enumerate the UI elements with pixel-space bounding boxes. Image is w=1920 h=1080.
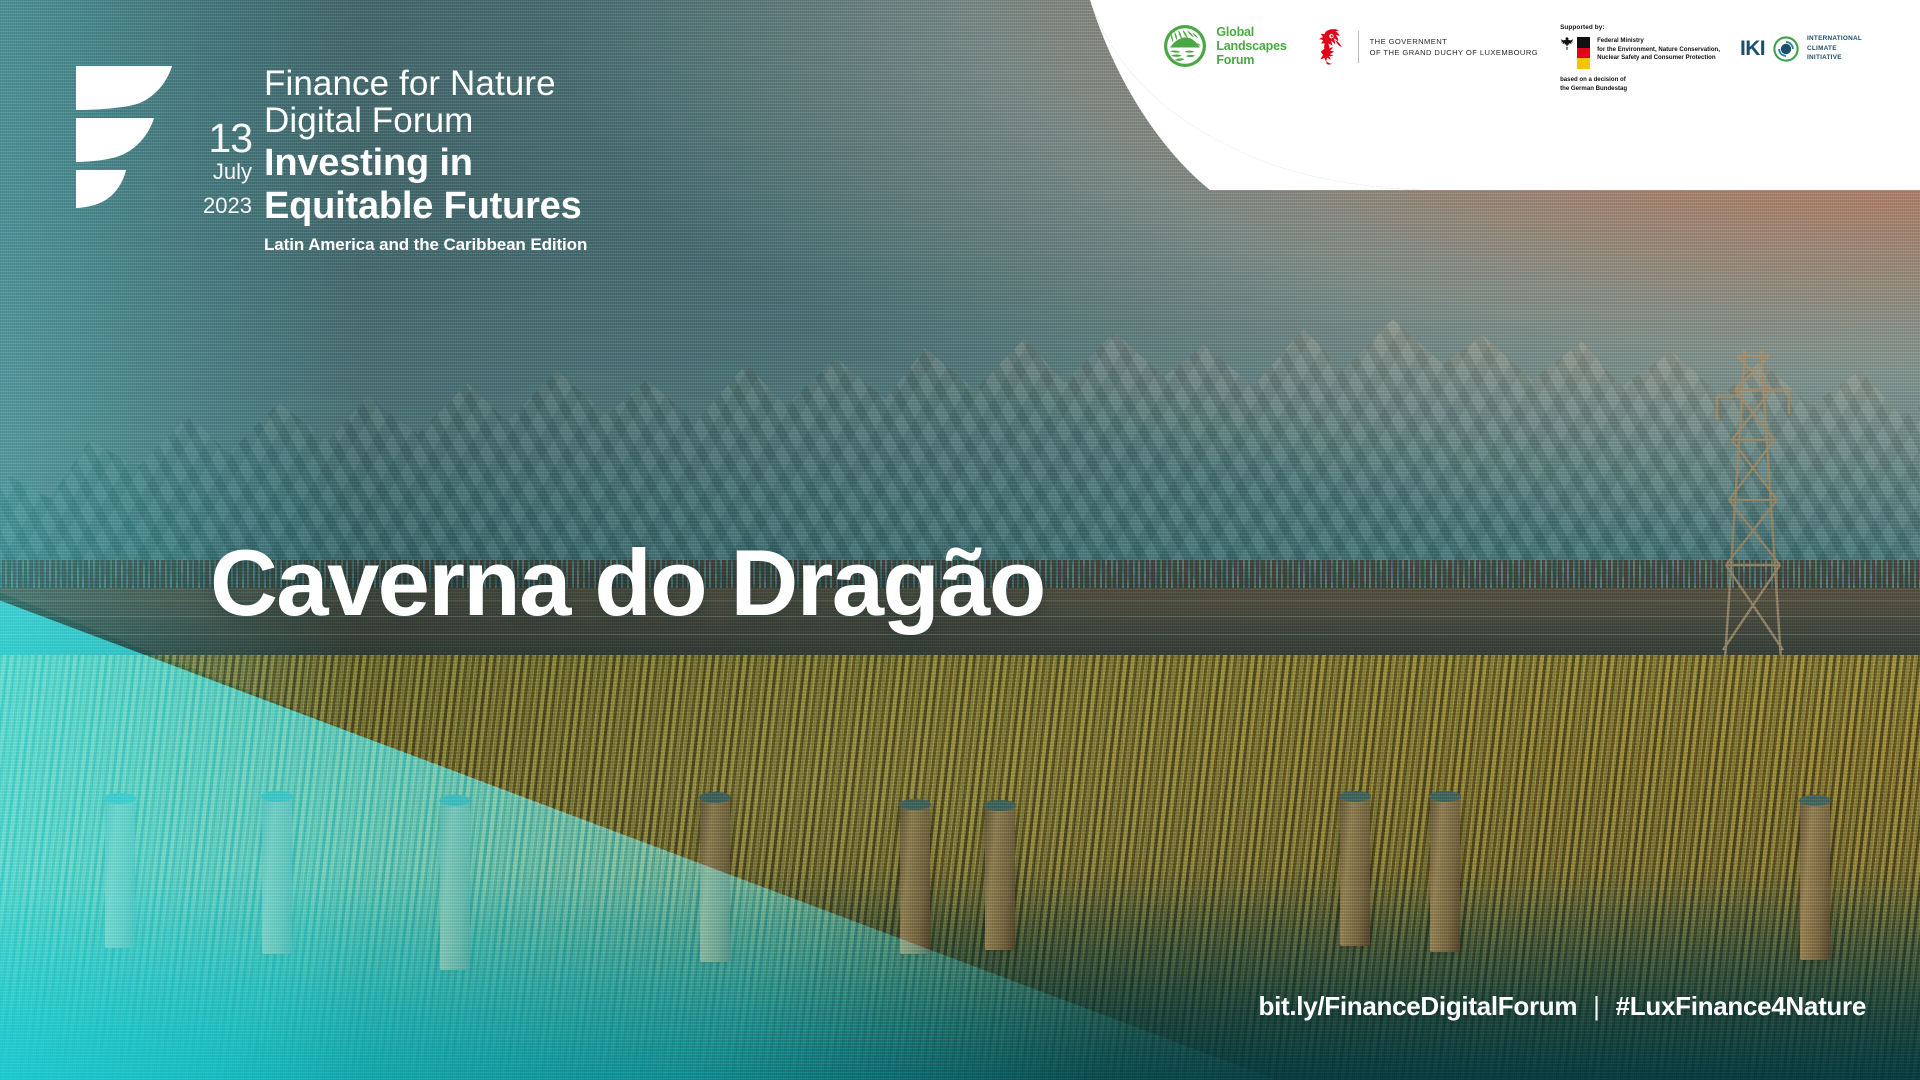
luxembourg-wordmark: THE GOVERNMENT OF THE GRAND DUCHY OF LUX… (1370, 36, 1538, 59)
luxembourg-divider (1358, 31, 1359, 63)
footer-url[interactable]: bit.ly/FinanceDigitalForum (1258, 991, 1577, 1022)
iki-circle-icon (1772, 35, 1800, 63)
finance-for-nature-f-mark-icon (68, 62, 180, 210)
luxembourg-lion-icon (1313, 28, 1347, 66)
footer-links: bit.ly/FinanceDigitalForum | #LuxFinance… (1258, 991, 1866, 1022)
iki-line-3: INITIATIVE (1807, 53, 1862, 63)
lux-line-2: OF THE GRAND DUCHY OF LUXEMBOURG (1370, 47, 1538, 58)
glf-leaf-emblem-icon (1163, 24, 1207, 68)
brand-line-1: Finance for Nature (264, 66, 587, 103)
date-month: July (213, 161, 252, 183)
session-title: Caverna do Dragão (210, 536, 1045, 630)
glf-line-1: Global (1216, 25, 1286, 39)
headline-line-2: Equitable Futures (264, 186, 587, 227)
date-year: 2023 (203, 195, 252, 217)
german-flag-bar-icon (1577, 37, 1590, 69)
event-date: 13 July 2023 (194, 62, 252, 217)
partner-logo-strip: Global Landscapes Forum (1163, 24, 1862, 93)
lux-line-1: THE GOVERNMENT (1370, 36, 1538, 47)
iki-line-1: INTERNATIONAL (1807, 34, 1862, 44)
luxembourg-government-logo: THE GOVERNMENT OF THE GRAND DUCHY OF LUX… (1313, 24, 1538, 66)
german-federal-ministry-logo: Supported by: (1560, 24, 1720, 93)
footer-separator: | (1593, 991, 1599, 1022)
event-title-block: Finance for Nature Digital Forum Investi… (264, 62, 587, 255)
iki-wordmark: INTERNATIONAL CLIMATE INITIATIVE (1807, 34, 1862, 63)
bundestag-footnote-line-1: based on a decision of (1560, 76, 1720, 85)
bmu-name: Federal Ministry for the Environment, Na… (1597, 37, 1720, 63)
bmu-name-line-2: for the Environment, Nature Conservation… (1597, 46, 1720, 55)
supported-by-label: Supported by: (1560, 24, 1720, 31)
footer-hashtag[interactable]: #LuxFinance4Nature (1616, 991, 1866, 1022)
global-landscapes-forum-logo: Global Landscapes Forum (1163, 24, 1286, 68)
glf-wordmark: Global Landscapes Forum (1216, 25, 1286, 68)
event-subtitle: Latin America and the Caribbean Edition (264, 235, 587, 255)
event-logo-lockup: 13 July 2023 Finance for Nature Digital … (68, 62, 587, 255)
bmu-name-line-1: Federal Ministry (1597, 37, 1720, 46)
headline-line-1: Investing in (264, 143, 587, 184)
brand-line-2: Digital Forum (264, 103, 587, 140)
event-banner: 13 July 2023 Finance for Nature Digital … (0, 0, 1920, 1080)
iki-line-2: CLIMATE (1807, 44, 1862, 54)
glf-line-3: Forum (1216, 53, 1286, 67)
german-eagle-icon (1560, 36, 1574, 51)
iki-acronym: IKI (1740, 37, 1765, 61)
date-day: 13 (208, 118, 252, 159)
glf-line-2: Landscapes (1216, 39, 1286, 53)
bmu-name-line-3: Nuclear Safety and Consumer Protection (1597, 54, 1720, 63)
iki-logo: IKI INTERNATIONAL (1740, 24, 1862, 63)
bundestag-footnote: based on a decision of the German Bundes… (1560, 76, 1720, 93)
bundestag-footnote-line-2: the German Bundestag (1560, 85, 1720, 94)
